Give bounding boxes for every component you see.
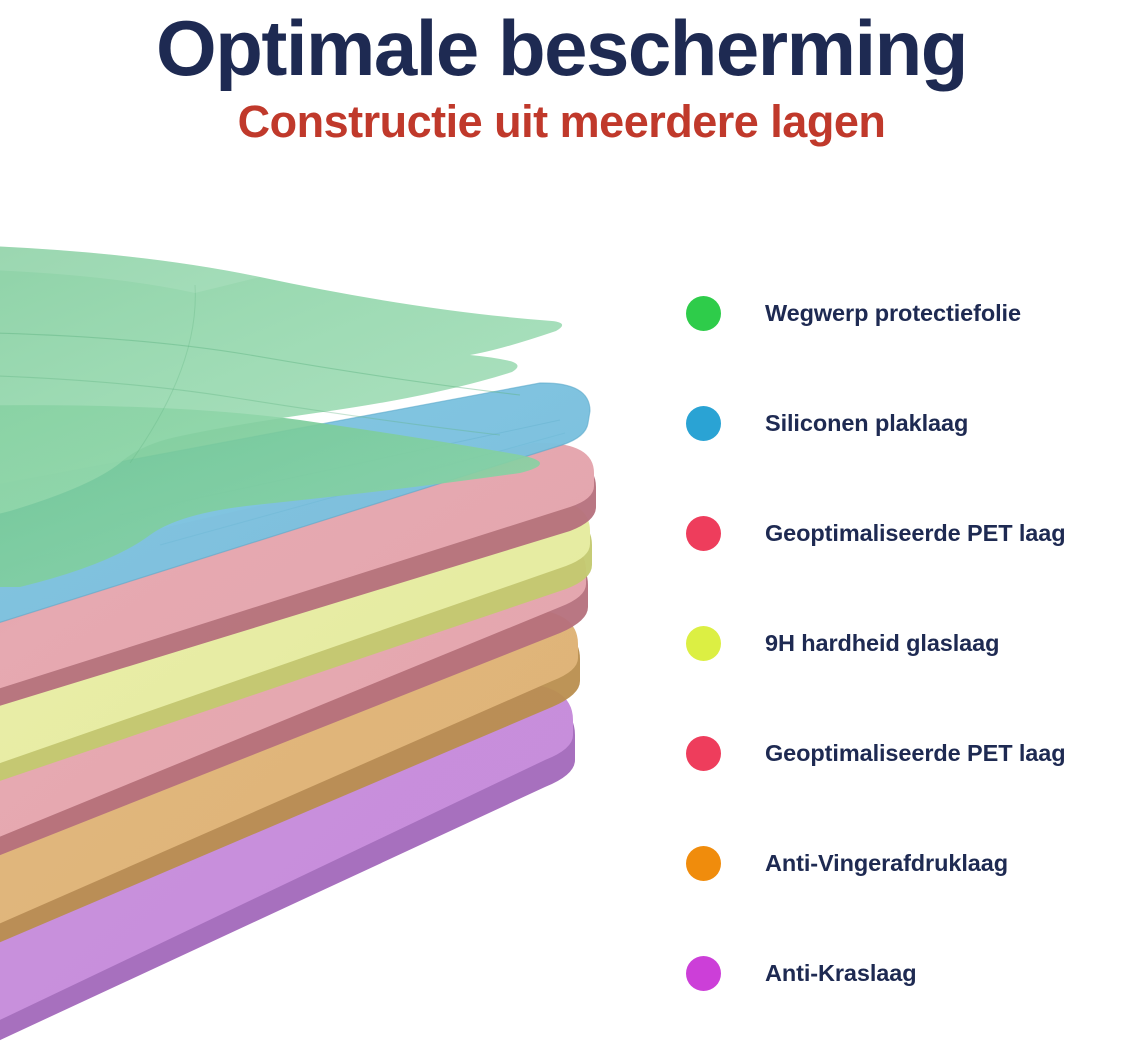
legend: Wegwerp protectiefolie Siliconen plaklaa… — [686, 258, 1123, 1028]
legend-item-label: Geoptimaliseerde PET laag — [765, 740, 1066, 767]
color-dot-magenta-icon — [686, 956, 721, 991]
legend-item-label: 9H hardheid glaslaag — [765, 630, 999, 657]
color-dot-blue-icon — [686, 406, 721, 441]
legend-item[interactable]: Wegwerp protectiefolie — [686, 258, 1123, 368]
legend-item[interactable]: Anti-Vingerafdruklaag — [686, 808, 1123, 918]
legend-item-label: Anti-Vingerafdruklaag — [765, 850, 1008, 877]
header: Optimale bescherming Constructie uit mee… — [0, 0, 1123, 150]
legend-item[interactable]: Geoptimaliseerde PET laag — [686, 698, 1123, 808]
color-dot-crimson-icon — [686, 736, 721, 771]
legend-item-label: Wegwerp protectiefolie — [765, 300, 1021, 327]
legend-item[interactable]: 9H hardheid glaslaag — [686, 588, 1123, 698]
page-title: Optimale bescherming — [0, 4, 1123, 92]
legend-item[interactable]: Anti-Kraslaag — [686, 918, 1123, 1028]
color-dot-orange-icon — [686, 846, 721, 881]
color-dot-yellow-icon — [686, 626, 721, 661]
page-subtitle: Constructie uit meerdere lagen — [0, 94, 1123, 150]
legend-item-label: Anti-Kraslaag — [765, 960, 917, 987]
color-dot-green-icon — [686, 296, 721, 331]
layer-stack-illustration — [0, 215, 640, 1054]
legend-item[interactable]: Siliconen plaklaag — [686, 368, 1123, 478]
color-dot-crimson-icon — [686, 516, 721, 551]
layer-construction-infographic: Optimale bescherming Constructie uit mee… — [0, 0, 1123, 1054]
legend-item[interactable]: Geoptimaliseerde PET laag — [686, 478, 1123, 588]
legend-item-label: Geoptimaliseerde PET laag — [765, 520, 1066, 547]
legend-item-label: Siliconen plaklaag — [765, 410, 968, 437]
